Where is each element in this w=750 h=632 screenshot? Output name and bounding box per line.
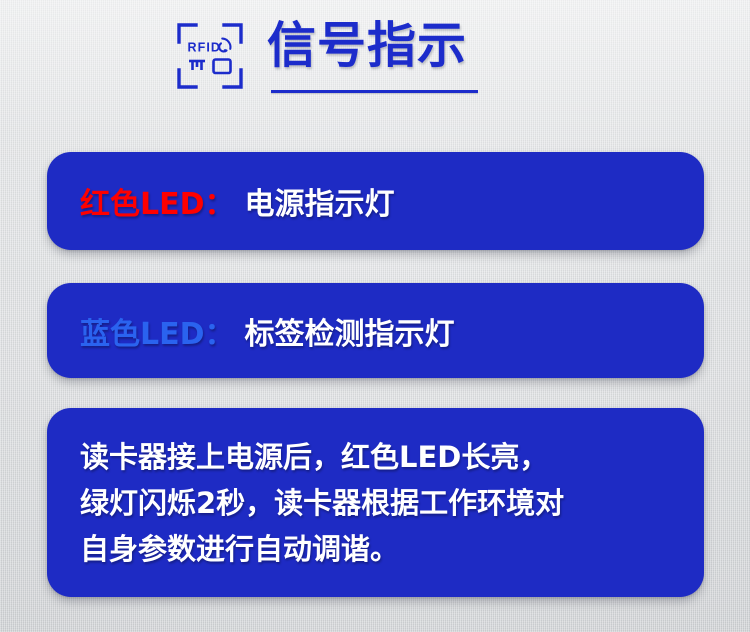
signal-indicator-infographic: RFID [0, 0, 750, 632]
page-title: 信号指示 [267, 14, 478, 78]
blue-led-value: 标签检测指示灯 [245, 317, 455, 352]
blue-led-label: 蓝色LED： [80, 317, 235, 352]
red-led-value: 电源指示灯 [245, 187, 395, 222]
card-stack: 红色LED：电源指示灯 蓝色LED：标签检测指示灯 读卡器接上电源后，红色LED… [47, 152, 704, 597]
card-startup-note: 读卡器接上电源后，红色LED长亮， 绿灯闪烁2秒，读卡器根据工作环境对 自身参数… [47, 408, 704, 597]
page-header: RFID [0, 0, 750, 118]
header-inner: RFID [175, 14, 478, 93]
svg-text:RFID: RFID [188, 41, 222, 55]
startup-note-text: 读卡器接上电源后，红色LED长亮， 绿灯闪烁2秒，读卡器根据工作环境对 自身参数… [80, 434, 678, 572]
card-blue-led: 蓝色LED：标签检测指示灯 [47, 283, 704, 378]
card-red-led-line: 红色LED：电源指示灯 [80, 179, 676, 223]
card-blue-led-line: 蓝色LED：标签检测指示灯 [80, 309, 676, 353]
rfid-scan-frame-icon: RFID [175, 20, 245, 92]
red-led-label: 红色LED： [80, 187, 235, 222]
title-underline-rule [271, 90, 478, 93]
startup-note-line: 绿灯闪烁2秒，读卡器根据工作环境对 [80, 480, 678, 526]
title-block: 信号指示 [267, 14, 478, 93]
card-red-led: 红色LED：电源指示灯 [47, 152, 704, 250]
startup-note-line: 自身参数进行自动调谐。 [80, 526, 678, 572]
startup-note-line: 读卡器接上电源后，红色LED长亮， [80, 434, 678, 480]
